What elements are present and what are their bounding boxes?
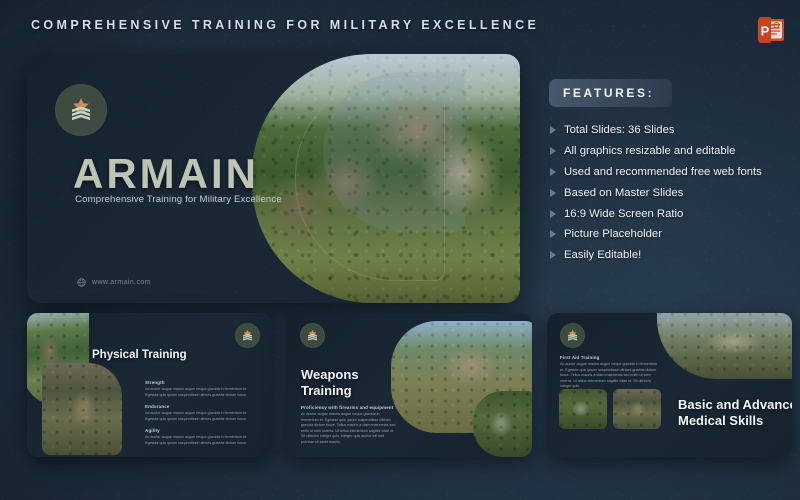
- feature-label: Picture Placeholder: [564, 228, 662, 240]
- feature-label: All graphics resizable and editable: [564, 145, 735, 157]
- section-heading: Proficiency with firearms and equipment: [301, 405, 396, 410]
- slide-thumbnail-weapons-training[interactable]: Weapons Training Proficiency with firear…: [287, 313, 532, 457]
- list-item: 16:9 Wide Screen Ratio: [550, 203, 794, 224]
- thumbnail-photo: [42, 363, 122, 455]
- powerpoint-icon: P: [758, 17, 784, 43]
- globe-icon: [77, 278, 86, 287]
- website-link[interactable]: www.armain.com: [77, 278, 151, 287]
- feature-label: Based on Master Slides: [564, 187, 683, 199]
- slide-thumbnail-physical-training[interactable]: Physical Training Strength Ac auctor aug…: [27, 313, 272, 457]
- section-body: Ac auctor augue mauris augue neque gravi…: [145, 411, 253, 422]
- thumbnail-photo: [657, 313, 792, 379]
- thumbnail-title: Physical Training: [92, 348, 187, 362]
- military-rank-badge-icon: [55, 84, 107, 136]
- section-heading: Endurance: [145, 404, 253, 409]
- features-heading: FEATURES:: [549, 79, 672, 107]
- triangle-right-icon: [550, 126, 556, 134]
- features-list: Total Slides: 36 Slides All graphics res…: [550, 120, 794, 266]
- list-item: Used and recommended free web fonts: [550, 162, 794, 183]
- triangle-right-icon: [550, 230, 556, 238]
- thumbnail-title: Basic and Advanced Medical Skills: [678, 397, 792, 429]
- feature-label: Total Slides: 36 Slides: [564, 124, 675, 136]
- section-body: Ac auctor augue mauris augue neque gravi…: [301, 412, 396, 445]
- list-item: Total Slides: 36 Slides: [550, 120, 794, 141]
- feature-label: 16:9 Wide Screen Ratio: [564, 208, 683, 220]
- list-item: Easily Editable!: [550, 245, 794, 266]
- triangle-right-icon: [550, 147, 556, 155]
- website-url: www.armain.com: [92, 279, 151, 286]
- section-body: Ac auctor augue mauris augue neque gravi…: [145, 387, 253, 398]
- thumbnail-body: First Aid Training Ac auctor augue mauri…: [560, 355, 660, 396]
- section-body: Ac auctor augue mauris augue neque gravi…: [145, 435, 253, 446]
- military-rank-badge-icon: [560, 323, 585, 348]
- section-heading: Agility: [145, 428, 253, 433]
- list-item: All graphics resizable and editable: [550, 141, 794, 162]
- svg-text:P: P: [761, 24, 770, 39]
- list-item: Based on Master Slides: [550, 182, 794, 203]
- section-body: Ac auctor augue mauris augue neque gravi…: [560, 362, 660, 390]
- slide-thumbnail-medical-skills[interactable]: First Aid Training Ac auctor augue mauri…: [547, 313, 792, 457]
- section-heading: First Aid Training: [560, 355, 660, 360]
- thumbnail-body: Proficiency with firearms and equipment …: [301, 405, 396, 451]
- section-heading: Strength: [145, 380, 253, 385]
- brand-tagline: Comprehensive Training for Military Exce…: [75, 194, 282, 205]
- triangle-right-icon: [550, 210, 556, 218]
- thumbnail-title-line2: Training: [301, 383, 359, 399]
- list-item: Picture Placeholder: [550, 224, 794, 245]
- feature-label: Easily Editable!: [564, 249, 641, 261]
- brand-name: ARMAIN: [73, 153, 259, 195]
- thumbnail-title-line2: Medical Skills: [678, 413, 792, 429]
- triangle-right-icon: [550, 189, 556, 197]
- main-slide-preview[interactable]: ARMAIN Comprehensive Training for Milita…: [27, 54, 520, 303]
- military-rank-badge-icon: [235, 323, 260, 348]
- thumbnail-title-line1: Basic and Advanced: [678, 397, 792, 413]
- military-rank-badge-icon: [300, 323, 325, 348]
- presentation-preview-canvas: COMPREHENSIVE TRAINING FOR MILITARY EXCE…: [0, 0, 800, 500]
- thumbnail-title-line1: Weapons: [301, 367, 359, 383]
- triangle-right-icon: [550, 168, 556, 176]
- thumbnail-body: Strength Ac auctor augue mauris augue ne…: [145, 380, 253, 452]
- page-title: COMPREHENSIVE TRAINING FOR MILITARY EXCE…: [31, 18, 539, 32]
- feature-label: Used and recommended free web fonts: [564, 166, 762, 178]
- triangle-right-icon: [550, 251, 556, 259]
- thumbnail-photo: [473, 391, 532, 457]
- thumbnail-title: Weapons Training: [301, 367, 359, 399]
